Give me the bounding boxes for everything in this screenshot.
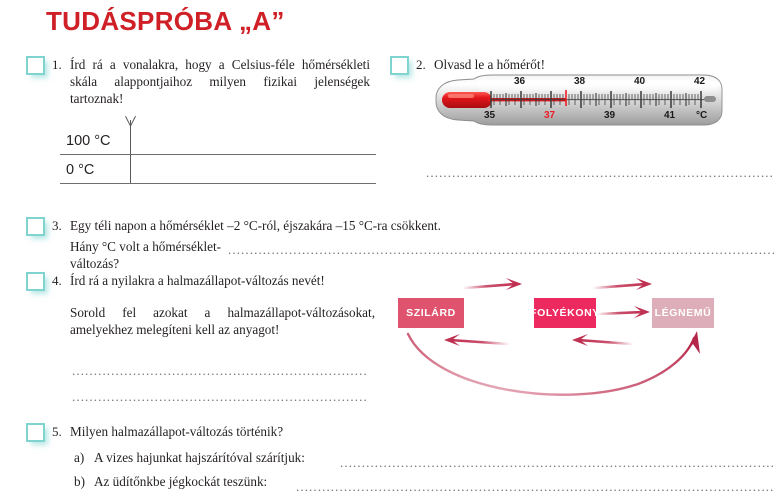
question-3-number: 3. [52,218,62,234]
question-5a-text: A vizes hajunkat hajszárítóval szárítjuk… [94,450,305,466]
question-5b-marker: b) [74,474,85,490]
arrow-melting [464,278,522,290]
arrow-freezing [444,334,508,346]
clinical-thermometer-image: 36 38 40 42 35 37 39 41 °C [428,72,726,128]
question-1-number: 1. [52,57,62,73]
state-of-matter-diagram: SZILÁRD FOLYÉKONY LÉGNEMŰ [388,276,768,404]
thermometer-tick-label-41: 41 [664,110,675,121]
axis-answer-line-upper[interactable] [60,154,376,155]
question-4-answer-line-2[interactable]: ........................................… [72,390,367,403]
question-1-text: Írd rá a vonalakra, hogy a Celsius-féle … [70,56,370,107]
question-4-text: Írd rá a nyilakra a halmazállapot-változ… [70,272,390,289]
thermometer-tick-label-38: 38 [574,76,585,87]
question-3-answer-line[interactable]: ........................................… [228,243,774,256]
thermometer-tick-label-42: 42 [694,76,705,87]
question-2-text: Olvasd le a hőmérőt! [434,56,764,73]
axis-answer-line-lower[interactable] [60,183,376,184]
page-title: TUDÁSPRÓBA „A” [46,6,285,37]
question-4-subtext: Sorold fel azokat a halmazállapot-változ… [70,304,375,338]
question-4-checkbox[interactable] [26,272,45,291]
question-5a-answer-line[interactable]: ........................................… [340,456,774,469]
question-5-checkbox[interactable] [26,423,45,442]
question-4-number: 4. [52,273,62,289]
question-1-checkbox[interactable] [26,56,45,75]
question-5a-marker: a) [74,450,84,466]
question-3-checkbox[interactable] [26,217,45,236]
state-box-solid: SZILÁRD [398,298,464,328]
thermometer-tick-label-35: 35 [484,110,495,121]
arrow-evaporation-top [594,278,652,290]
question-5-number: 5. [52,424,62,440]
thermometer-unit-label: °C [696,110,707,121]
state-box-gas: LÉGNEMŰ [652,298,714,328]
question-5b-answer-line[interactable]: ........................................… [296,480,774,493]
axis-vertical-line [130,120,131,184]
thermometer-tick-label-40: 40 [634,76,645,87]
thermometer-tick-label-36: 36 [514,76,525,87]
question-2-checkbox[interactable] [390,56,409,75]
question-2-number: 2. [416,57,426,73]
question-5b-text: Az üdítőnkbe jégkockát teszünk: [94,474,267,490]
celsius-scale-diagram: 100 °C 0 °C [60,112,380,184]
axis-label-100c: 100 °C [66,133,111,149]
question-5-text: Milyen halmazállapot-változás történik? [70,423,470,440]
thermometer-tick-label-39: 39 [604,110,615,121]
question-4-answer-line-1[interactable]: ........................................… [72,364,367,377]
state-box-liquid: FOLYÉKONY [534,298,596,328]
arrow-condensation [572,334,632,346]
thermometer-tick-label-37: 37 [544,110,555,121]
arrow-boiling [598,306,650,318]
question-2-answer-line[interactable]: ........................................… [426,166,774,179]
axis-label-0c: 0 °C [66,162,94,178]
question-3-text: Egy téli napon a hőmérséklet –2 °C-ról, … [70,217,690,234]
